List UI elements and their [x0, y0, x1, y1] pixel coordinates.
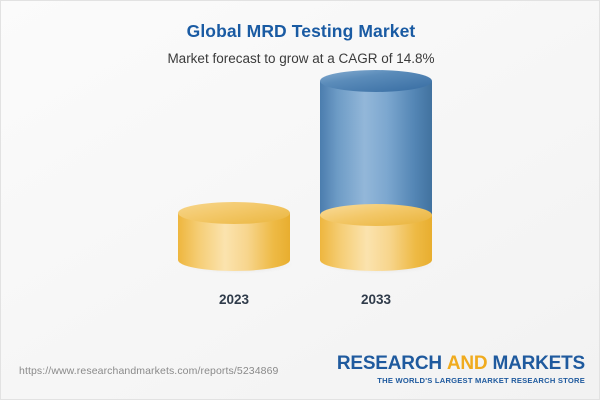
chart-plot-area: USD 1.67 Billion [1, 1, 600, 349]
cylinder-2023-svg [176, 202, 292, 276]
category-label-2023: 2023 [169, 292, 299, 307]
chart-footer: https://www.researchandmarkets.com/repor… [1, 347, 600, 399]
logo-wordmark: RESEARCHANDMARKETS [337, 354, 585, 374]
logo-tagline: THE WORLD'S LARGEST MARKET RESEARCH STOR… [337, 376, 585, 385]
category-label-2033: 2033 [311, 292, 441, 307]
research-and-markets-logo[interactable]: RESEARCHANDMARKETS THE WORLD'S LARGEST M… [337, 354, 585, 385]
cylinder-2033 [318, 70, 434, 281]
source-url[interactable]: https://www.researchandmarkets.com/repor… [19, 365, 278, 377]
logo-word-research: RESEARCH [337, 353, 442, 374]
logo-word-and: AND [447, 353, 488, 374]
chart-card: Global MRD Testing Market Market forecas… [0, 0, 600, 400]
cylinder-2023 [176, 202, 292, 281]
cylinder-2033-svg [318, 70, 434, 276]
logo-word-markets: MARKETS [492, 353, 585, 374]
